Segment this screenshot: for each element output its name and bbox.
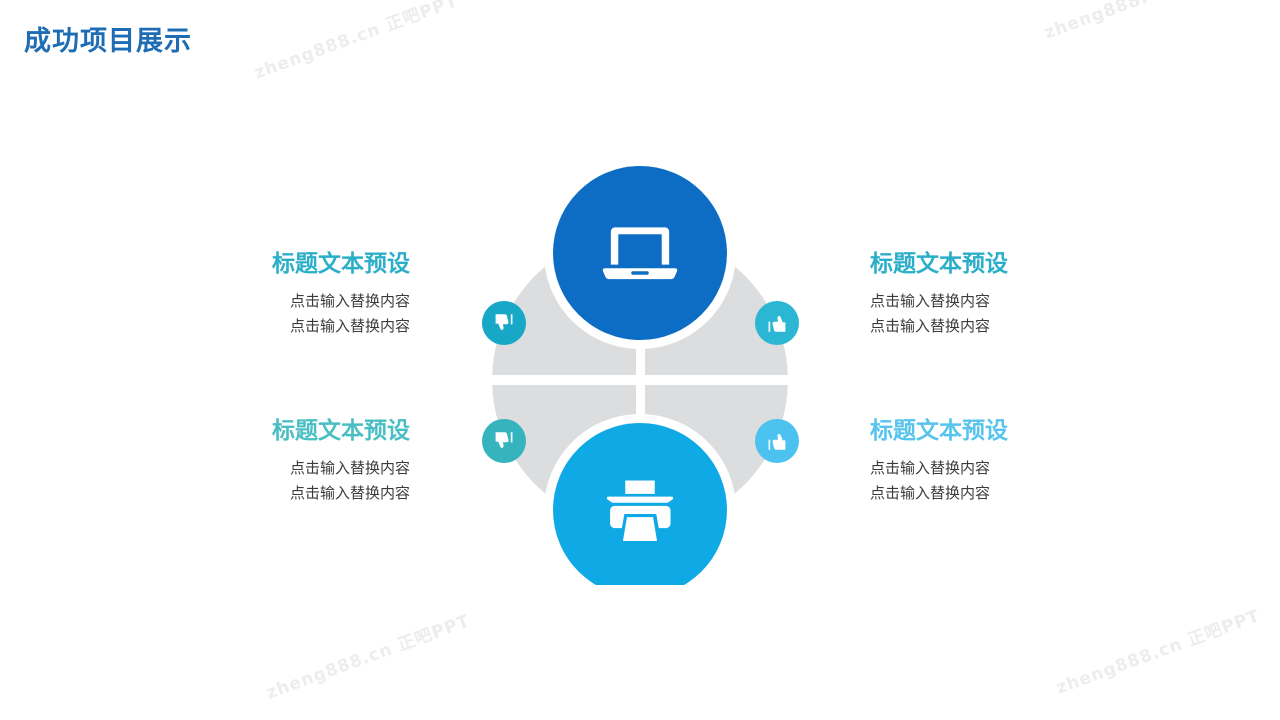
watermark-top-right: zheng888.cn 正吧PPT <box>1040 0 1251 43</box>
text-block-title: 标题文本预设 <box>110 250 410 279</box>
watermark-top-left: zheng888.cn 正吧PPT <box>250 0 461 83</box>
text-block-line-2: 点击输入替换内容 <box>110 481 410 506</box>
slide-canvas: zheng888.cn 正吧PPT zheng888.cn 正吧PPT zhen… <box>0 0 1280 720</box>
watermark-bottom-left: zheng888.cn 正吧PPT <box>262 606 473 703</box>
text-block-line-1: 点击输入替换内容 <box>870 289 1170 314</box>
text-block-bottom-right[interactable]: 标题文本预设 点击输入替换内容 点击输入替换内容 <box>870 417 1170 505</box>
badge-top-right[interactable] <box>755 301 799 345</box>
top-node-circle[interactable] <box>553 166 727 340</box>
thumbs-down-icon <box>492 429 516 453</box>
text-block-line-1: 点击输入替换内容 <box>110 456 410 481</box>
badge-bottom-right[interactable] <box>755 419 799 463</box>
thumbs-up-icon <box>765 429 789 453</box>
text-block-line-2: 点击输入替换内容 <box>110 314 410 339</box>
text-block-top-left[interactable]: 标题文本预设 点击输入替换内容 点击输入替换内容 <box>110 250 410 338</box>
text-block-line-2: 点击输入替换内容 <box>870 481 1170 506</box>
text-block-line-1: 点击输入替换内容 <box>110 289 410 314</box>
thumbs-up-icon <box>765 311 789 335</box>
badge-top-left[interactable] <box>482 301 526 345</box>
watermark-bottom-right: zheng888.cn 正吧PPT <box>1052 601 1263 698</box>
text-block-bottom-left[interactable]: 标题文本预设 点击输入替换内容 点击输入替换内容 <box>110 417 410 505</box>
text-block-title: 标题文本预设 <box>870 250 1170 279</box>
text-block-top-right[interactable]: 标题文本预设 点击输入替换内容 点击输入替换内容 <box>870 250 1170 338</box>
text-block-line-2: 点击输入替换内容 <box>870 314 1170 339</box>
thumbs-down-icon <box>492 311 516 335</box>
page-title: 成功项目展示 <box>24 24 192 59</box>
badge-bottom-left[interactable] <box>482 419 526 463</box>
text-block-line-1: 点击输入替换内容 <box>870 456 1170 481</box>
text-block-title: 标题文本预设 <box>870 417 1170 446</box>
center-diagram <box>470 155 810 585</box>
text-block-title: 标题文本预设 <box>110 417 410 446</box>
